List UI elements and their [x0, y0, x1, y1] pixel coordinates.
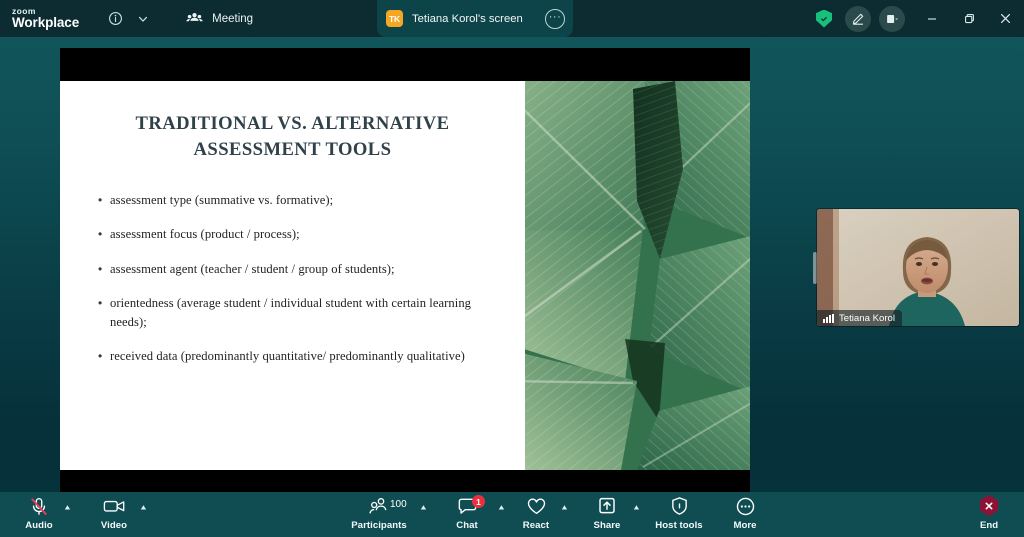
share-button[interactable]: Share	[578, 495, 636, 531]
tab-shared-screen[interactable]: TK Tetiana Korol's screen ···	[377, 0, 573, 37]
host-tools-button[interactable]: Host tools	[650, 495, 708, 531]
chat-options-caret[interactable]: ▲	[497, 503, 506, 511]
chevron-down-icon[interactable]	[130, 6, 156, 32]
bullet-text: assessment type (summative vs. formative…	[110, 191, 333, 210]
audio-level-bars-icon	[823, 314, 834, 323]
slide-text-column: TRADITIONAL VS. ALTERNATIVE ASSESSMENT T…	[60, 81, 525, 470]
participants-options-caret[interactable]: ▲	[419, 503, 428, 511]
slide-title-line-2: ASSESSMENT TOOLS	[96, 137, 489, 163]
slide-title-line-1: TRADITIONAL VS. ALTERNATIVE	[96, 111, 489, 137]
brand-workplace-text: Workplace	[12, 16, 79, 30]
chat-button-label: Chat	[456, 520, 478, 531]
more-dots-icon	[735, 495, 756, 517]
participants-count: 100	[390, 499, 407, 510]
info-circle-icon[interactable]	[102, 6, 128, 32]
bullet-dot-icon: •	[98, 260, 110, 279]
participants-button-label: Participants	[351, 520, 407, 531]
bullet-text: orientedness (average student / individu…	[110, 294, 503, 331]
bullet-dot-icon: •	[98, 347, 110, 366]
share-options-caret[interactable]: ▲	[632, 503, 641, 511]
selfview-name-bar: Tetiana Korol	[817, 310, 902, 326]
bullet-text: received data (predominantly quantitativ…	[110, 347, 465, 366]
nav-item-meeting[interactable]: Meeting	[176, 5, 263, 33]
slide-title: TRADITIONAL VS. ALTERNATIVE ASSESSMENT T…	[96, 111, 489, 164]
selfview-video-tile[interactable]: Tetiana Korol	[817, 209, 1019, 326]
bullet-dot-icon: •	[98, 191, 110, 210]
microphone-muted-icon	[29, 495, 49, 517]
avatar: TK	[386, 10, 403, 27]
host-tools-button-label: Host tools	[655, 520, 702, 531]
share-button-label: Share	[594, 520, 621, 531]
zoom-workplace-logo: zoom Workplace	[12, 7, 79, 30]
chat-button[interactable]: Chat	[438, 495, 496, 531]
shared-screen-stage[interactable]: TRADITIONAL VS. ALTERNATIVE ASSESSMENT T…	[60, 48, 750, 492]
end-call-label: End	[980, 520, 998, 531]
react-options-caret[interactable]: ▲	[560, 503, 569, 511]
more-button[interactable]: More	[716, 495, 774, 531]
slide-bullet-list: • assessment type (summative vs. formati…	[82, 191, 503, 366]
share-screen-icon	[597, 495, 617, 517]
list-item: • orientedness (average student / indivi…	[98, 294, 503, 331]
end-call-icon	[979, 495, 1000, 516]
audio-button-label: Audio	[25, 520, 52, 531]
view-layout-icon[interactable]	[879, 6, 905, 32]
list-item: • assessment focus (product / process);	[98, 225, 503, 244]
minimize-button[interactable]	[913, 0, 950, 37]
chat-unread-badge: 1	[472, 495, 485, 508]
audio-options-caret[interactable]: ▲	[63, 503, 72, 511]
selfview-name-label: Tetiana Korol	[839, 313, 895, 324]
video-button-label: Video	[101, 520, 127, 531]
window-controls-group	[816, 0, 1024, 37]
presentation-slide: TRADITIONAL VS. ALTERNATIVE ASSESSMENT T…	[60, 81, 750, 470]
video-options-caret[interactable]: ▲	[139, 503, 148, 511]
nav-item-meeting-label: Meeting	[212, 13, 253, 25]
bullet-text: assessment focus (product / process);	[110, 225, 300, 244]
react-button[interactable]: React	[507, 495, 565, 531]
banana-leaves-illustration	[525, 81, 750, 470]
video-button[interactable]: Video	[85, 495, 143, 531]
list-item: • assessment agent (teacher / student / …	[98, 260, 503, 279]
video-camera-icon	[103, 495, 126, 517]
audio-button[interactable]: Audio	[10, 495, 68, 531]
close-button[interactable]	[987, 0, 1024, 37]
security-shield-icon[interactable]	[816, 10, 832, 28]
heart-icon	[526, 495, 547, 517]
shield-icon	[670, 495, 689, 517]
participants-icon	[369, 495, 390, 517]
meeting-controls-toolbar: Audio ▲ Video ▲ Participants 100 ▲	[0, 492, 1024, 537]
more-button-label: More	[733, 520, 756, 531]
bullet-dot-icon: •	[98, 294, 110, 331]
react-button-label: React	[523, 520, 549, 531]
annotate-pen-icon[interactable]	[845, 6, 871, 32]
list-item: • received data (predominantly quantitat…	[98, 347, 503, 366]
bullet-text: assessment agent (teacher / student / gr…	[110, 260, 395, 279]
more-options-icon[interactable]: ···	[545, 9, 565, 29]
list-item: • assessment type (summative vs. formati…	[98, 191, 503, 210]
slide-image-banana-leaves	[525, 81, 750, 470]
tab-shared-screen-label: Tetiana Korol's screen	[412, 13, 536, 25]
title-bar: zoom Workplace Meeting TK Tetiana Korol'…	[0, 0, 1024, 37]
maximize-button[interactable]	[950, 0, 987, 37]
people-group-icon	[186, 12, 203, 26]
end-call-button[interactable]: End	[960, 495, 1018, 531]
participant-webcam-image	[817, 209, 1019, 326]
bullet-dot-icon: •	[98, 225, 110, 244]
